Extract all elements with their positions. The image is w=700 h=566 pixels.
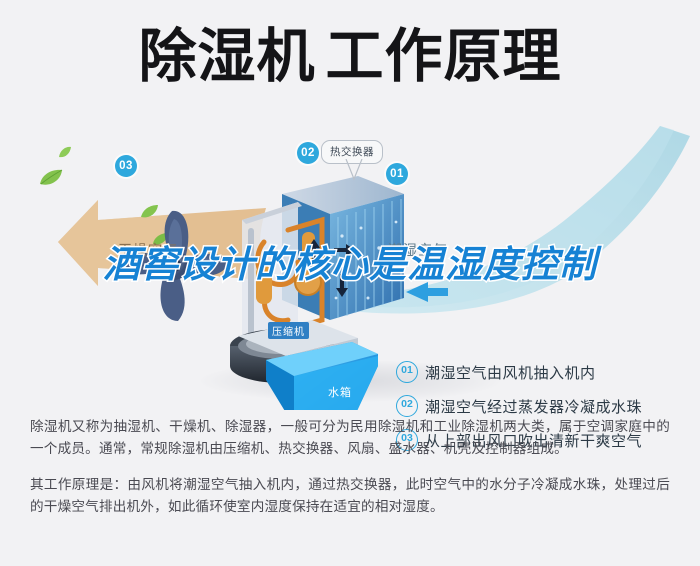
dehumidifier-diagram: 03 02 01 热交换器 干燥空气 潮湿空气 压缩机 水箱 01 潮湿空气由风…	[0, 110, 700, 410]
diagram-marker-03: 03	[115, 155, 137, 177]
legend-text-01: 潮湿空气由风机抽入机内	[425, 362, 596, 383]
article-body: 除湿机又称为抽湿机、干燥机、除湿器，一般可分为民用除湿机和工业除湿机两大类，属于…	[30, 416, 670, 518]
legend-text-02: 潮湿空气经过蒸发器冷凝成水珠	[425, 396, 642, 417]
leaf-icon	[58, 146, 72, 159]
page-title: 除湿机工作原理	[0, 28, 700, 86]
label-moist-air: 潮湿空气	[388, 240, 448, 260]
paragraph-1: 除湿机又称为抽湿机、干燥机、除湿器，一般可分为民用除湿机和工业除湿机两大类，属于…	[30, 416, 670, 460]
fan-icon	[110, 205, 240, 330]
legend-badge-01: 01	[396, 361, 418, 383]
paragraph-2: 其工作原理是：由风机将潮湿空气抽入机内，通过热交换器，此时空气中的水分子冷凝成水…	[30, 474, 670, 518]
legend-badge-02: 02	[396, 395, 418, 417]
label-dry-air: 干燥空气	[118, 240, 178, 260]
label-water-tank: 水箱	[328, 384, 352, 400]
page-root: 除湿机工作原理	[0, 0, 700, 566]
title-part-1: 除湿机	[138, 24, 315, 89]
callout-pointer-icon	[340, 159, 370, 189]
diagram-marker-01: 01	[386, 163, 408, 185]
label-compressor: 压缩机	[268, 322, 309, 339]
leaf-icon	[38, 168, 64, 188]
title-part-2: 工作原理	[326, 24, 562, 89]
diagram-marker-02: 02	[297, 142, 319, 164]
legend-item-01: 01 潮湿空气由风机抽入机内	[396, 355, 686, 389]
